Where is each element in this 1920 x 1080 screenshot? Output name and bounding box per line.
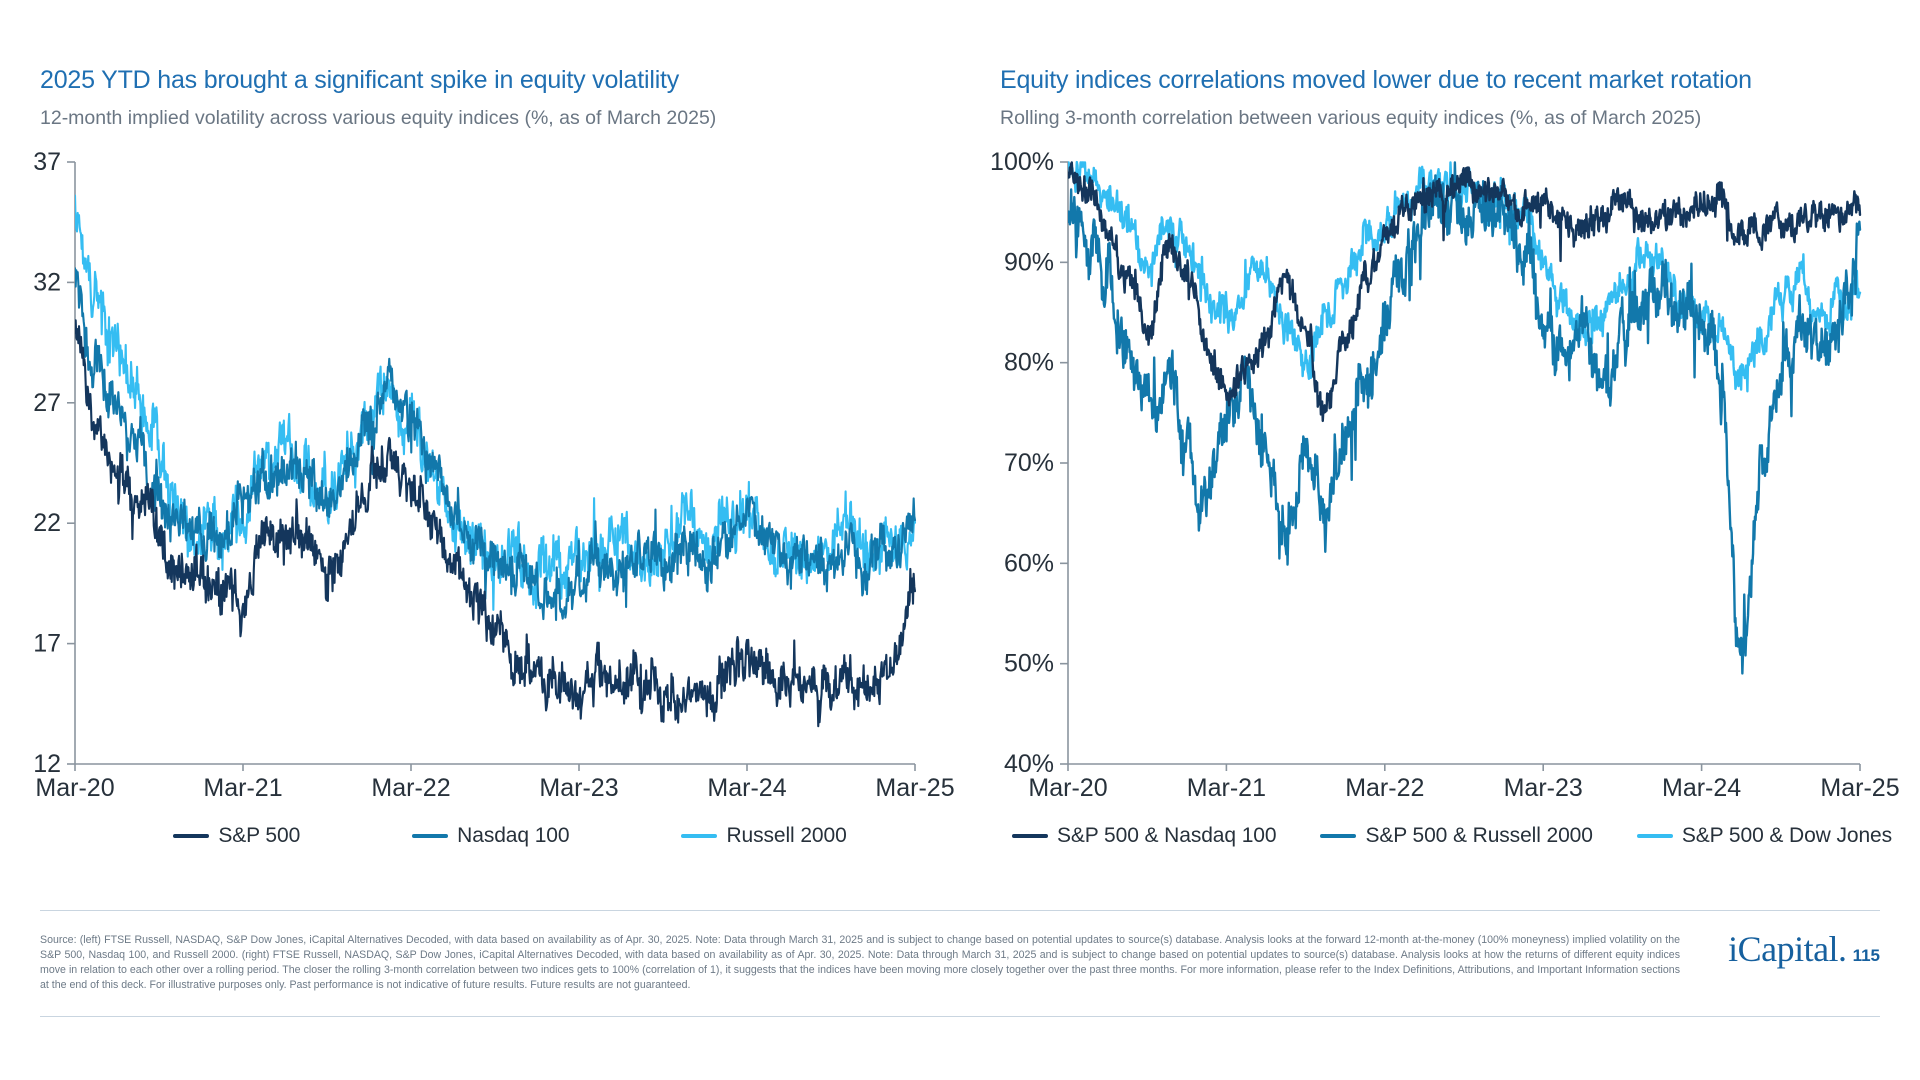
page-subtitle-right: Rolling 3-month correlation between vari… (1000, 107, 1890, 129)
legend-swatch-icon (681, 834, 717, 838)
x-axis-tick-label: Mar-22 (1345, 774, 1424, 802)
y-axis-tick-label: 32 (33, 268, 61, 296)
footer-divider-top (40, 910, 1880, 911)
panel-header-right: Equity indices correlations moved lower … (1000, 66, 1890, 129)
legend-label: S&P 500 & Russell 2000 (1365, 824, 1592, 848)
brand-logo: iCapital. 115 (1728, 928, 1880, 970)
legend-volatility: S&P 500Nasdaq 100Russell 2000 (0, 824, 960, 848)
page-title-left: 2025 YTD has brought a significant spike… (40, 66, 930, 95)
line-chart-volatility: 121722273237Mar-20Mar-21Mar-22Mar-23Mar-… (0, 150, 960, 830)
x-axis-tick-label: Mar-21 (203, 774, 282, 802)
legend-item[interactable]: S&P 500 & Russell 2000 (1320, 824, 1592, 848)
icapital-wordmark: iCapital. (1728, 928, 1846, 970)
footer-divider-bottom (40, 1016, 1880, 1017)
legend-swatch-icon (1320, 834, 1356, 838)
panel-header-left: 2025 YTD has brought a significant spike… (40, 66, 930, 129)
legend-swatch-icon (412, 834, 448, 838)
legend-swatch-icon (173, 834, 209, 838)
y-axis-tick-label: 60% (1004, 549, 1054, 577)
y-axis-tick-label: 50% (1004, 650, 1054, 678)
x-axis-tick-label: Mar-23 (1504, 774, 1583, 802)
legend-item[interactable]: S&P 500 & Nasdaq 100 (1012, 824, 1276, 848)
x-axis-tick-label: Mar-20 (1028, 774, 1107, 802)
x-axis-tick-label: Mar-24 (707, 774, 786, 802)
legend-item[interactable]: Nasdaq 100 (412, 824, 569, 848)
y-axis-tick-label: 100% (990, 150, 1054, 176)
y-axis-tick-label: 27 (33, 389, 61, 417)
x-axis-tick-label: Mar-22 (371, 774, 450, 802)
chart-panel-correlation: Equity indices correlations moved lower … (960, 0, 1920, 900)
legend-label: Nasdaq 100 (457, 824, 569, 848)
x-axis-tick-label: Mar-25 (1820, 774, 1899, 802)
y-axis-tick-label: 90% (1004, 248, 1054, 276)
y-axis-tick-label: 37 (33, 150, 61, 176)
plot-area-volatility: 121722273237Mar-20Mar-21Mar-22Mar-23Mar-… (0, 150, 960, 830)
chart-panel-volatility: 2025 YTD has brought a significant spike… (0, 0, 960, 900)
y-axis-tick-label: 80% (1004, 349, 1054, 377)
source-footnote: Source: (left) FTSE Russell, NASDAQ, S&P… (40, 933, 1680, 993)
legend-swatch-icon (1012, 834, 1048, 838)
x-axis-tick-label: Mar-25 (875, 774, 954, 802)
footer: Source: (left) FTSE Russell, NASDAQ, S&P… (0, 900, 1920, 1080)
legend-label: S&P 500 & Dow Jones (1682, 824, 1892, 848)
y-axis-tick-label: 17 (33, 630, 61, 658)
legend-item[interactable]: S&P 500 (173, 824, 300, 848)
x-axis-tick-label: Mar-23 (539, 774, 618, 802)
plot-area-correlation: 40%50%60%70%80%90%100%Mar-20Mar-21Mar-22… (960, 150, 1920, 830)
legend-label: Russell 2000 (726, 824, 846, 848)
legend-correlation: S&P 500 & Nasdaq 100S&P 500 & Russell 20… (960, 824, 1920, 848)
line-chart-correlation: 40%50%60%70%80%90%100%Mar-20Mar-21Mar-22… (960, 150, 1920, 830)
legend-item[interactable]: S&P 500 & Dow Jones (1637, 824, 1892, 848)
y-axis-tick-label: 70% (1004, 449, 1054, 477)
legend-label: S&P 500 & Nasdaq 100 (1057, 824, 1276, 848)
x-axis-tick-label: Mar-21 (1187, 774, 1266, 802)
legend-label: S&P 500 (218, 824, 300, 848)
page-title-right: Equity indices correlations moved lower … (1000, 66, 1890, 95)
legend-swatch-icon (1637, 834, 1673, 838)
x-axis-tick-label: Mar-24 (1662, 774, 1741, 802)
page-number: 115 (1853, 946, 1880, 966)
page-subtitle-left: 12-month implied volatility across vario… (40, 107, 930, 129)
slide: 2025 YTD has brought a significant spike… (0, 0, 1920, 1080)
legend-item[interactable]: Russell 2000 (681, 824, 846, 848)
y-axis-tick-label: 22 (33, 509, 61, 537)
x-axis-tick-label: Mar-20 (35, 774, 114, 802)
